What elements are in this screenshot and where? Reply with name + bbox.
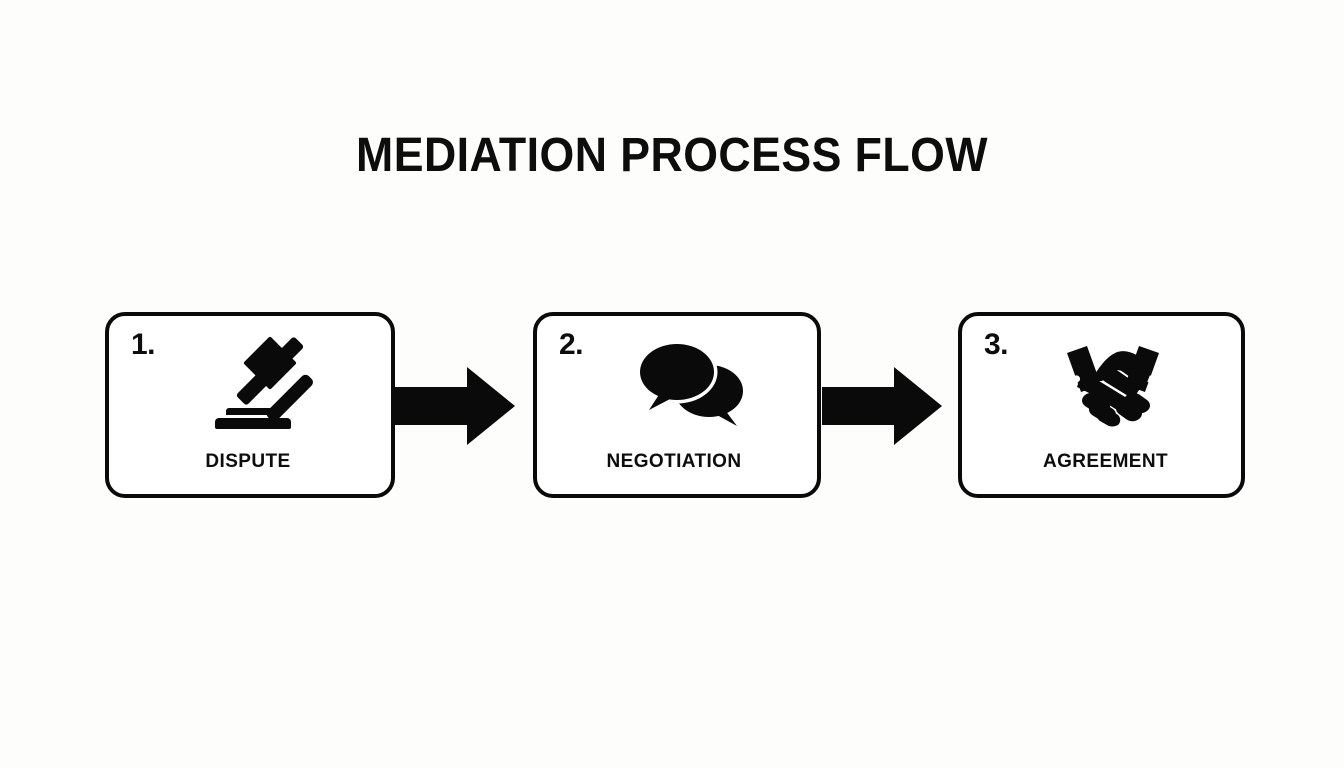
arrow-right-icon-1 [395, 367, 515, 445]
mediation-process-flow-diagram: MEDIATION PROCESS FLOW 1. [0, 0, 1344, 768]
flow-row: 1. [105, 312, 1245, 498]
page-title: MEDIATION PROCESS FLOW [47, 128, 1297, 183]
step-card-agreement[interactable]: 3. [958, 312, 1245, 498]
handshake-icon [962, 334, 1241, 434]
speech-bubbles-icon [537, 334, 817, 434]
step-card-negotiation[interactable]: 2. [533, 312, 821, 498]
step-label-agreement: AGREEMENT [966, 451, 1245, 473]
step-label-dispute: DISPUTE [107, 451, 389, 473]
gavel-icon [109, 334, 391, 434]
step-label-negotiation: NEGOTIATION [534, 451, 814, 473]
step-card-dispute[interactable]: 1. [105, 312, 395, 498]
arrow-right-icon-2 [822, 367, 942, 445]
